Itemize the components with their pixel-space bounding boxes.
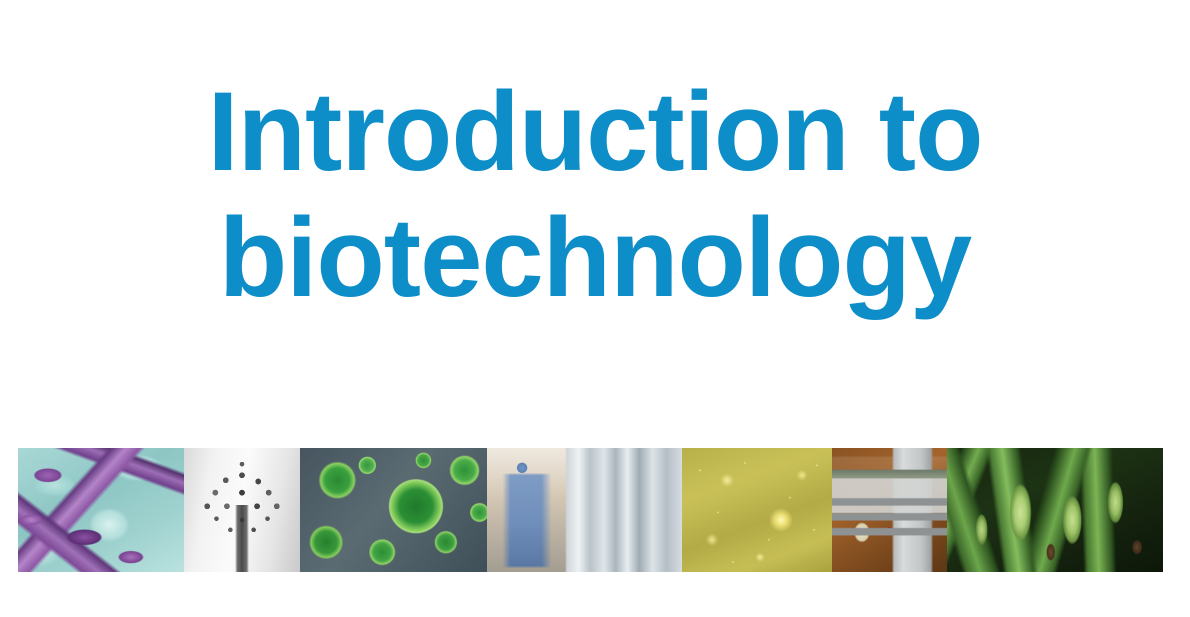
title-slide: Introduction to biotechnology [0,0,1190,617]
algae-image [300,448,487,572]
banner-panel-bioprocess-plant [487,448,682,572]
image-banner-strip [18,448,1163,572]
title-line-1: Introduction to [0,74,1190,190]
lab-fermenter-image [832,448,947,572]
banner-panel-maize [947,448,1163,572]
banner-panel-algae [300,448,487,572]
bioprocess-plant-image [487,448,682,572]
banner-panel-lab-fermenter [832,448,947,572]
banner-panel-fungus [184,448,300,572]
maize-plant-image [947,448,1163,572]
title-line-2: biotechnology [0,200,1190,316]
fungus-image [184,448,300,572]
banner-panel-bacteria [18,448,184,572]
bacteria-image [18,448,184,572]
microbial-culture-image [682,448,832,572]
page-title: Introduction to biotechnology [0,74,1190,316]
banner-panel-culture [682,448,832,572]
